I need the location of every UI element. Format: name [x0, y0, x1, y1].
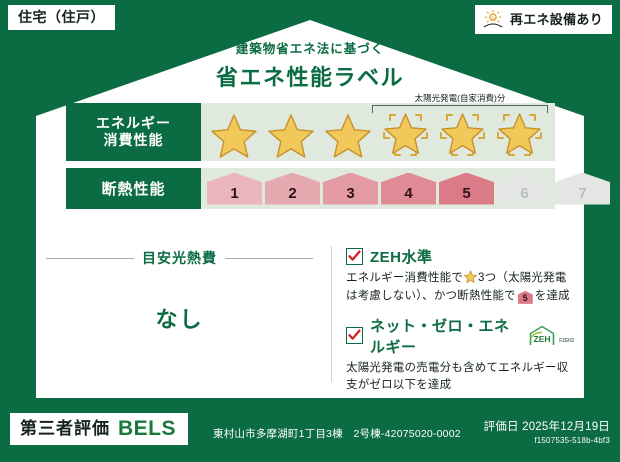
bottom-section: 目安光熱費 なし ZEH水準 エネルギー消費性能で3つ（太陽光発電は考慮しない）… — [46, 240, 574, 392]
performance-rows: エネルギー 消費性能 太陽光発電(自家消費)分 — [66, 103, 555, 216]
insulation-chips: 1 2 3 4 5 6 7 — [201, 173, 610, 205]
column-divider — [331, 246, 332, 382]
energy-stars-area: 太陽光発電(自家消費)分 — [201, 103, 555, 161]
insulation-chip-6: 6 — [497, 173, 552, 205]
inline-star-icon — [464, 270, 477, 283]
criterion-net-zero-body: 太陽光発電の売電分も含めてエネルギー収支がゼロ以下を達成 — [346, 360, 574, 396]
check-icon-zeh-level — [346, 248, 363, 265]
criteria-column: ZEH水準 エネルギー消費性能で3つ（太陽光発電は考慮しない）、かつ断熱性能で5… — [346, 240, 574, 392]
check-icon-net-zero — [346, 327, 363, 344]
energy-performance-row: エネルギー 消費性能 太陽光発電(自家消費)分 — [66, 103, 555, 161]
insulation-chip-4: 4 — [381, 173, 436, 205]
criterion-net-zero-head: ネット・ゼロ・エネルギー ZEH FZEH2 — [346, 315, 574, 357]
star-5-solar — [435, 108, 490, 160]
bels-japanese-label: 第三者評価 — [20, 420, 110, 437]
energy-label-line1: エネルギー — [96, 115, 171, 133]
document-id: f1507535-518b-4bf3 — [484, 436, 610, 445]
evaluation-date: 評価日 2025年12月19日 — [484, 418, 610, 434]
category-tag: 住宅（住戸） — [8, 5, 115, 30]
criterion-zeh-body-c: を達成 — [535, 290, 570, 302]
utility-cost-heading: 目安光熱費 — [46, 248, 331, 268]
star-6-solar — [492, 108, 547, 160]
solar-bracket-label: 太陽光発電(自家消費)分 — [372, 94, 548, 103]
star-2 — [264, 108, 319, 160]
criterion-zeh-level-head: ZEH水準 — [346, 246, 574, 267]
cost-rule-left — [46, 258, 134, 259]
bels-certification-mark: 第三者評価 BELS — [10, 413, 188, 445]
criterion-zeh-level-body: エネルギー消費性能で3つ（太陽光発電は考慮しない）、かつ断熱性能で5を達成 — [346, 270, 574, 306]
utility-cost-value: なし — [46, 302, 331, 334]
label-footer: 第三者評価 BELS 東村山市多摩湖町1丁目3棟 2号棟-42075020-00… — [0, 404, 620, 462]
title-main: 省エネ性能ラベル — [0, 60, 620, 92]
star-4-solar — [378, 108, 433, 160]
star-1 — [207, 108, 262, 160]
energy-performance-label: エネルギー 消費性能 — [66, 103, 201, 161]
criterion-zeh-level: ZEH水準 エネルギー消費性能で3つ（太陽光発電は考慮しない）、かつ断熱性能で5… — [346, 246, 574, 306]
cost-rule-right — [225, 258, 313, 259]
insulation-chip-5: 5 — [439, 173, 494, 205]
renewable-badge-label: 再エネ設備あり — [510, 13, 603, 26]
renewable-energy-badge: D 再エネ設備あり — [475, 5, 612, 34]
zeh-house-logo-icon: ZEH FZEH2 — [527, 325, 574, 346]
bels-energy-label: 住宅（住戸） D 再エネ設備あり 建築物省エネ法に基づく — [0, 0, 620, 462]
svg-text:ZEH: ZEH — [534, 334, 551, 344]
bels-wordmark: BELS — [118, 418, 176, 439]
energy-label-line2: 消費性能 — [104, 132, 164, 150]
insulation-chips-area: 1 2 3 4 5 6 7 — [201, 168, 610, 209]
insulation-performance-row: 断熱性能 1 2 3 4 5 6 7 — [66, 168, 555, 209]
star-3 — [321, 108, 376, 160]
insulation-performance-label: 断熱性能 — [66, 168, 201, 209]
utility-cost-column: 目安光熱費 なし — [46, 240, 331, 392]
cost-heading-text: 目安光熱費 — [142, 248, 217, 268]
property-address: 東村山市多摩湖町1丁目3棟 2号棟-42075020-0002 — [213, 426, 461, 441]
criterion-zeh-body-a: エネルギー消費性能で — [346, 272, 463, 284]
criterion-zeh-level-title: ZEH水準 — [370, 246, 433, 267]
insulation-chip-1: 1 — [207, 173, 262, 205]
inline-insulation-chip-icon: 5 — [518, 291, 533, 304]
star-rating — [201, 108, 547, 160]
label-title: 建築物省エネ法に基づく 省エネ性能ラベル — [0, 38, 620, 92]
title-subtitle: 建築物省エネ法に基づく — [0, 38, 620, 57]
evaluation-date-block: 評価日 2025年12月19日 f1507535-518b-4bf3 — [484, 418, 610, 445]
sun-solar-icon: D — [482, 9, 504, 29]
insulation-chip-3: 3 — [323, 173, 378, 205]
criterion-net-zero-title: ネット・ゼロ・エネルギー — [370, 315, 515, 357]
zeh-logo-sublabel: FZEH2 — [559, 338, 574, 346]
insulation-chip-2: 2 — [265, 173, 320, 205]
criterion-net-zero-energy: ネット・ゼロ・エネルギー ZEH FZEH2 太陽光発電の売電分も含めてエネルギ… — [346, 315, 574, 396]
insulation-chip-7: 7 — [555, 173, 610, 205]
